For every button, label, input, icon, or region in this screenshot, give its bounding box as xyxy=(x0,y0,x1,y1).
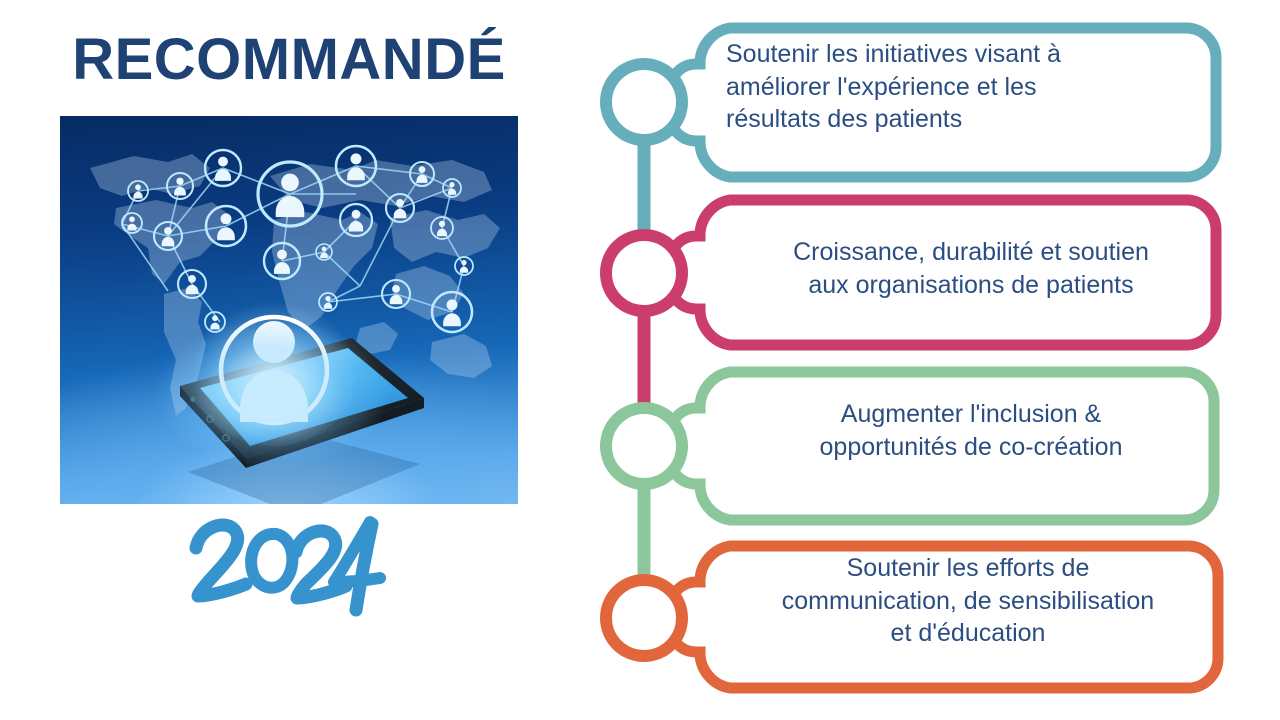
year-label xyxy=(0,508,578,618)
callout-line: aux organisations de patients xyxy=(726,269,1216,302)
callout-line: Soutenir les efforts de xyxy=(718,552,1218,585)
tablet-icon xyxy=(60,116,518,504)
callout-line: Augmenter l'inclusion & xyxy=(726,398,1216,431)
global-network-illustration xyxy=(60,116,518,504)
callout-line: Soutenir les initiatives visant à xyxy=(726,38,1216,71)
recommendations-flow: Soutenir les initiatives visant à amélio… xyxy=(600,0,1280,720)
callout-text-3: Augmenter l'inclusion & opportunités de … xyxy=(726,398,1216,463)
callout-line: améliorer l'expérience et les xyxy=(726,71,1216,104)
callout-line: Croissance, durabilité et soutien xyxy=(726,236,1216,269)
callout-text-4: Soutenir les efforts de communication, d… xyxy=(718,552,1218,650)
year-script-2024 xyxy=(184,508,394,618)
callout-line: communication, de sensibilisation xyxy=(718,585,1218,618)
callout-text-2: Croissance, durabilité et soutien aux or… xyxy=(726,236,1216,301)
left-column: RECOMMANDÉ xyxy=(0,0,600,720)
callout-text-1: Soutenir les initiatives visant à amélio… xyxy=(726,38,1216,136)
slide-canvas: RECOMMANDÉ xyxy=(0,0,1280,720)
callout-line: résultats des patients xyxy=(726,103,1216,136)
page-title: RECOMMANDÉ xyxy=(0,26,578,93)
callout-line: opportunités de co-création xyxy=(726,431,1216,464)
callout-line: et d'éducation xyxy=(718,617,1218,650)
